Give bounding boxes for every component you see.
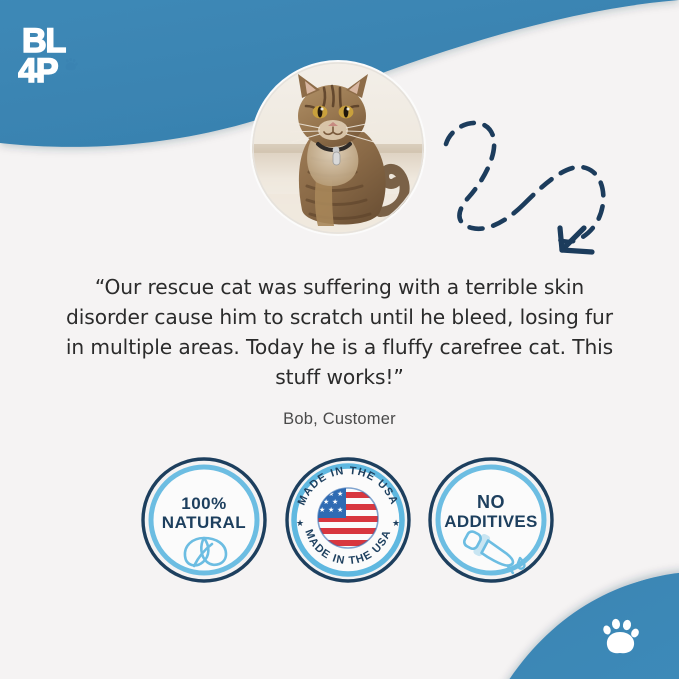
svg-text:★: ★: [332, 498, 338, 506]
trust-badges-row: 100% NATURAL: [140, 452, 555, 588]
product-infographic-card: BL 4P: [0, 0, 679, 679]
svg-text:★: ★: [328, 506, 334, 514]
badge-100-natural: 100% NATURAL: [140, 456, 268, 584]
badge-additives-line1: NO: [477, 492, 505, 512]
corner-paw-print-icon: [600, 616, 642, 656]
testimonial-quote: “Our rescue cat was suffering with a ter…: [60, 272, 619, 392]
badge-natural-line2: NATURAL: [162, 513, 246, 532]
svg-text:★: ★: [337, 506, 343, 514]
badge-no-additives: NO ADDITIVES: [427, 456, 555, 584]
bottom-blue-wave: [505, 572, 679, 679]
customer-cat-photo: [252, 62, 424, 234]
logo-text-bottom: 4P: [18, 52, 58, 90]
testimonial-block: “Our rescue cat was suffering with a ter…: [60, 272, 619, 429]
badge-additives-line2: ADDITIVES: [444, 512, 537, 531]
testimonial-author: Bob, Customer: [60, 410, 619, 429]
logo-paw-icon: [66, 58, 78, 70]
dashed-curved-arrow-icon: [432, 112, 622, 260]
badge-usa-star-left: ★: [295, 518, 303, 528]
svg-text:★: ★: [337, 490, 343, 498]
brand-logo[interactable]: BL 4P: [18, 20, 94, 92]
badge-natural-line1: 100%: [181, 494, 226, 513]
badge-made-in-usa: ★★★ ★★ ★★★ MADE IN THE USA MADE IN THE U…: [284, 456, 412, 584]
bottom-blue-wave-fill: [503, 574, 679, 679]
badge-usa-star-right: ★: [391, 518, 399, 528]
